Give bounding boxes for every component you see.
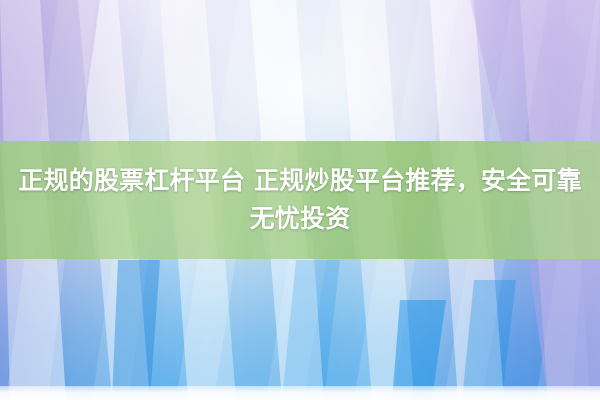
- footer-watermark: [276, 382, 324, 394]
- banner: 正规的股票杠杆平台 正规炒股平台推荐，安全可靠无忧投资: [0, 0, 600, 400]
- headline-text: 正规的股票杠杆平台 正规炒股平台推荐，安全可靠无忧投资: [18, 162, 582, 238]
- headline-container: 正规的股票杠杆平台 正规炒股平台推荐，安全可靠无忧投资: [0, 141, 600, 259]
